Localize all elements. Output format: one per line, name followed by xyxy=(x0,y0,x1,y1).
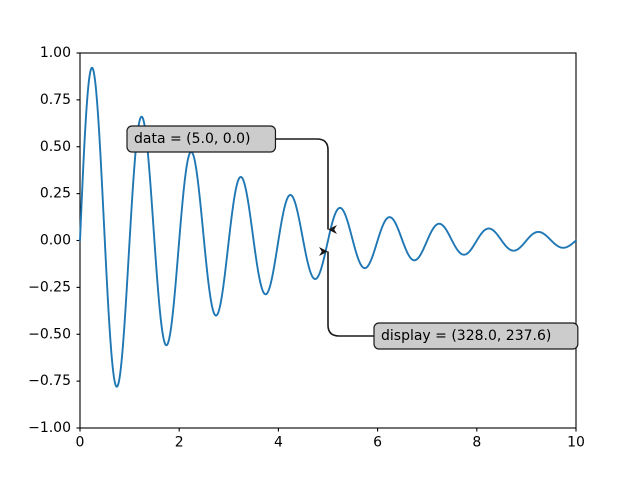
matplotlib-figure: −1.00−0.75−0.50−0.250.000.250.500.751.00… xyxy=(0,0,640,480)
x-tick-label: 4 xyxy=(274,435,283,451)
x-tick-label: 0 xyxy=(76,435,85,451)
x-tick-label: 8 xyxy=(472,435,481,451)
y-tick-label: −0.75 xyxy=(28,373,71,389)
x-tick-label: 6 xyxy=(373,435,382,451)
y-tick-label: 0.25 xyxy=(40,186,71,202)
x-tick-label: 10 xyxy=(567,435,585,451)
annotation-data-coords-label: data = (5.0, 0.0) xyxy=(134,131,251,147)
x-tick-label: 2 xyxy=(175,435,184,451)
y-tick-label: 0.00 xyxy=(40,233,71,249)
y-tick-label: −1.00 xyxy=(28,420,71,436)
y-tick-label: 0.75 xyxy=(40,92,71,108)
plot-canvas: −1.00−0.75−0.50−0.250.000.250.500.751.00… xyxy=(0,0,640,480)
annotation-display-coords-label: display = (328.0, 237.6) xyxy=(381,328,551,344)
y-tick-label: −0.25 xyxy=(28,279,71,295)
y-tick-label: −0.50 xyxy=(28,326,71,342)
y-tick-label: 0.50 xyxy=(40,139,71,155)
y-tick-label: 1.00 xyxy=(40,45,71,61)
